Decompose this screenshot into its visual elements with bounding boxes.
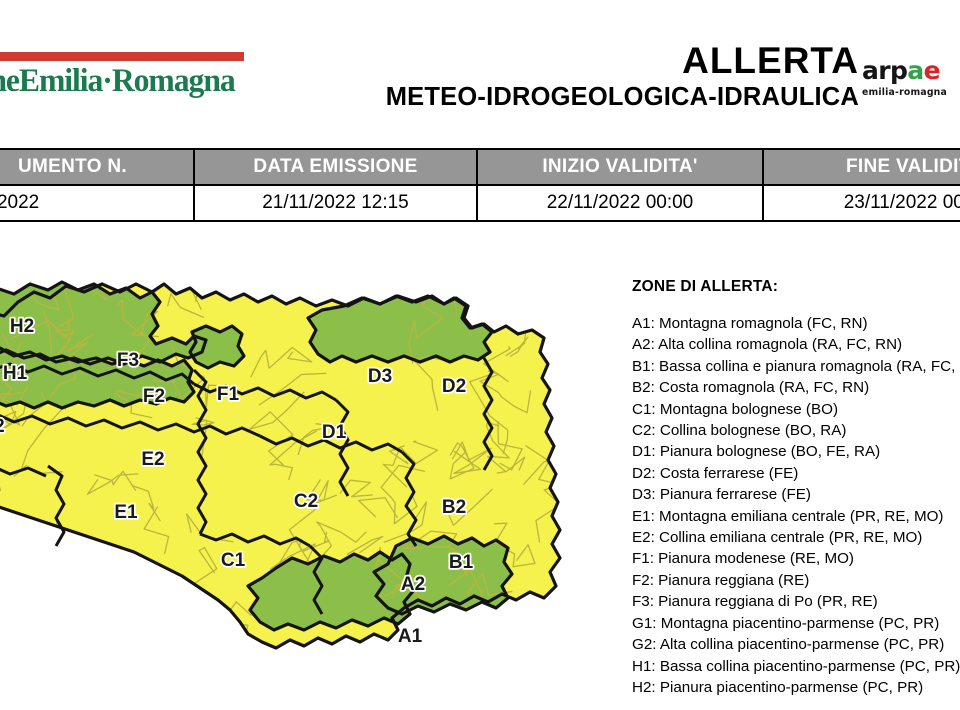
- legend-item: C2: Collina bolognese (BO, RA): [632, 420, 960, 441]
- page-header: gioneEmilia·Romagna ALLERTA METEO-IDROGE…: [0, 0, 960, 148]
- legend-item: A2: Alta collina romagnola (RA, FC, RN): [632, 334, 960, 355]
- arpae-logo: arpae emilia-romagna: [862, 58, 954, 98]
- page-title: ALLERTA METEO-IDROGEOLOGICA-IDRAULICA: [386, 42, 859, 112]
- legend-item: D2: Costa ferrarese (FE): [632, 463, 960, 484]
- map-svg: A1A2B1B2C1C2D1D2D3E1E2F1F2F3G1G2H1H2: [0, 248, 620, 710]
- legend-item: H2: Pianura piacentino-parmense (PC, PR): [632, 677, 960, 698]
- zone-label-H2: H2: [10, 316, 34, 337]
- zone-label-B2: B2: [442, 497, 466, 518]
- title-subtitle: METEO-IDROGEOLOGICA-IDRAULICA: [386, 83, 859, 112]
- legend-item: A1: Montagna romagnola (FC, RN): [632, 313, 960, 334]
- zone-label-C1: C1: [221, 550, 246, 571]
- td-data-emissione: 21/11/2022 12:15: [194, 185, 477, 221]
- zone-label-B1: B1: [449, 552, 474, 573]
- zone-label-A2: A2: [401, 574, 425, 595]
- th-inizio-validita: INIZIO VALIDITA': [477, 149, 763, 185]
- subdivision-line: [201, 609, 234, 631]
- regione-emilia-romagna-logo: gioneEmilia·Romagna: [0, 52, 252, 98]
- legend-title: ZONE DI ALLERTA:: [632, 278, 960, 296]
- subdivision-line: [71, 555, 87, 590]
- subdivision-line: [585, 394, 620, 428]
- subdivision-line: [0, 604, 32, 623]
- subdivision-line: [34, 578, 68, 610]
- subdivision-line: [482, 248, 532, 301]
- td-inizio-validita: 22/11/2022 00:00: [477, 185, 763, 221]
- alert-bulletin-page: gioneEmilia·Romagna ALLERTA METEO-IDROGE…: [0, 0, 960, 710]
- subdivision-line: [115, 581, 158, 622]
- table-header-row: UMENTO N. DATA EMISSIONE INIZIO VALIDITA…: [0, 149, 960, 185]
- zone-label-E1: E1: [114, 502, 138, 523]
- zone-label-C2: C2: [294, 491, 318, 512]
- th-fine-validita: FINE VALIDITA': [763, 149, 960, 185]
- zone-label-D2: D2: [442, 376, 466, 397]
- arpae-wordmark: arpae: [862, 58, 954, 83]
- zone-label-H1: H1: [3, 363, 28, 384]
- legend-item: F3: Pianura reggiana di Po (PR, RE): [632, 591, 960, 612]
- zone-label-A1: A1: [398, 626, 423, 647]
- legend-item: E1: Montagna emiliana centrale (PR, RE, …: [632, 506, 960, 527]
- logo-text: gioneEmilia·Romagna: [0, 65, 240, 98]
- subdivision-line: [512, 248, 545, 281]
- subdivision-line: [582, 248, 616, 282]
- td-fine-validita: 23/11/2022 00:00: [763, 185, 960, 221]
- legend-item: F2: Pianura reggiana (RE): [632, 570, 960, 591]
- zone-label-F3: F3: [117, 350, 139, 371]
- legend-item: C1: Montagna bolognese (BO): [632, 399, 960, 420]
- arpae-arp: arp: [862, 56, 907, 85]
- legend-item: G1: Montagna piacentino-parmense (PC, PR…: [632, 613, 960, 634]
- legend-item: G2: Alta collina piacentino-parmense (PC…: [632, 634, 960, 655]
- subdivision-line: [573, 527, 620, 568]
- th-data-emissione: DATA EMISSIONE: [194, 149, 477, 185]
- zone-label-F1: F1: [217, 384, 240, 405]
- subdivision-line: [574, 516, 620, 580]
- zone-label-F2: F2: [143, 386, 165, 407]
- subdivision-line: [179, 632, 221, 661]
- arpae-e: e: [924, 56, 940, 85]
- legend-item: B2: Costa romagnola (RA, FC, RN): [632, 377, 960, 398]
- zone-label-G2: G2: [0, 416, 5, 437]
- zone-label-E2: E2: [141, 449, 164, 470]
- td-documento-n: 076/2022: [0, 185, 194, 221]
- legend-item: F1: Pianura modenese (RE, MO): [632, 548, 960, 569]
- legend-panel: ZONE DI ALLERTA: A1: Montagna romagnola …: [632, 278, 960, 698]
- zone-label-D1: D1: [322, 422, 347, 443]
- bulletin-info-table: UMENTO N. DATA EMISSIONE INIZIO VALIDITA…: [0, 148, 960, 222]
- legend-item: D3: Pianura ferrarese (FE): [632, 484, 960, 505]
- legend-item: E2: Collina emiliana centrale (PR, RE, M…: [632, 527, 960, 548]
- subdivision-line: [549, 422, 620, 466]
- title-allerta: ALLERTA: [386, 42, 859, 81]
- zone-label-D3: D3: [368, 366, 392, 387]
- legend-item: B1: Bassa collina e pianura romagnola (R…: [632, 356, 960, 377]
- th-documento-n: UMENTO N.: [0, 149, 194, 185]
- logo-red-bar: [0, 52, 244, 61]
- legend-list: A1: Montagna romagnola (FC, RN)A2: Alta …: [632, 313, 960, 698]
- table-value-row: 076/2022 21/11/2022 12:15 22/11/2022 00:…: [0, 185, 960, 221]
- alert-zone-map: A1A2B1B2C1C2D1D2D3E1E2F1F2F3G1G2H1H2: [0, 248, 620, 710]
- legend-item: D1: Pianura bolognese (BO, FE, RA): [632, 441, 960, 462]
- arpae-subtitle: emilia-romagna: [862, 87, 954, 98]
- arpae-a: a: [907, 56, 923, 85]
- legend-item: H1: Bassa collina piacentino-parmense (P…: [632, 656, 960, 677]
